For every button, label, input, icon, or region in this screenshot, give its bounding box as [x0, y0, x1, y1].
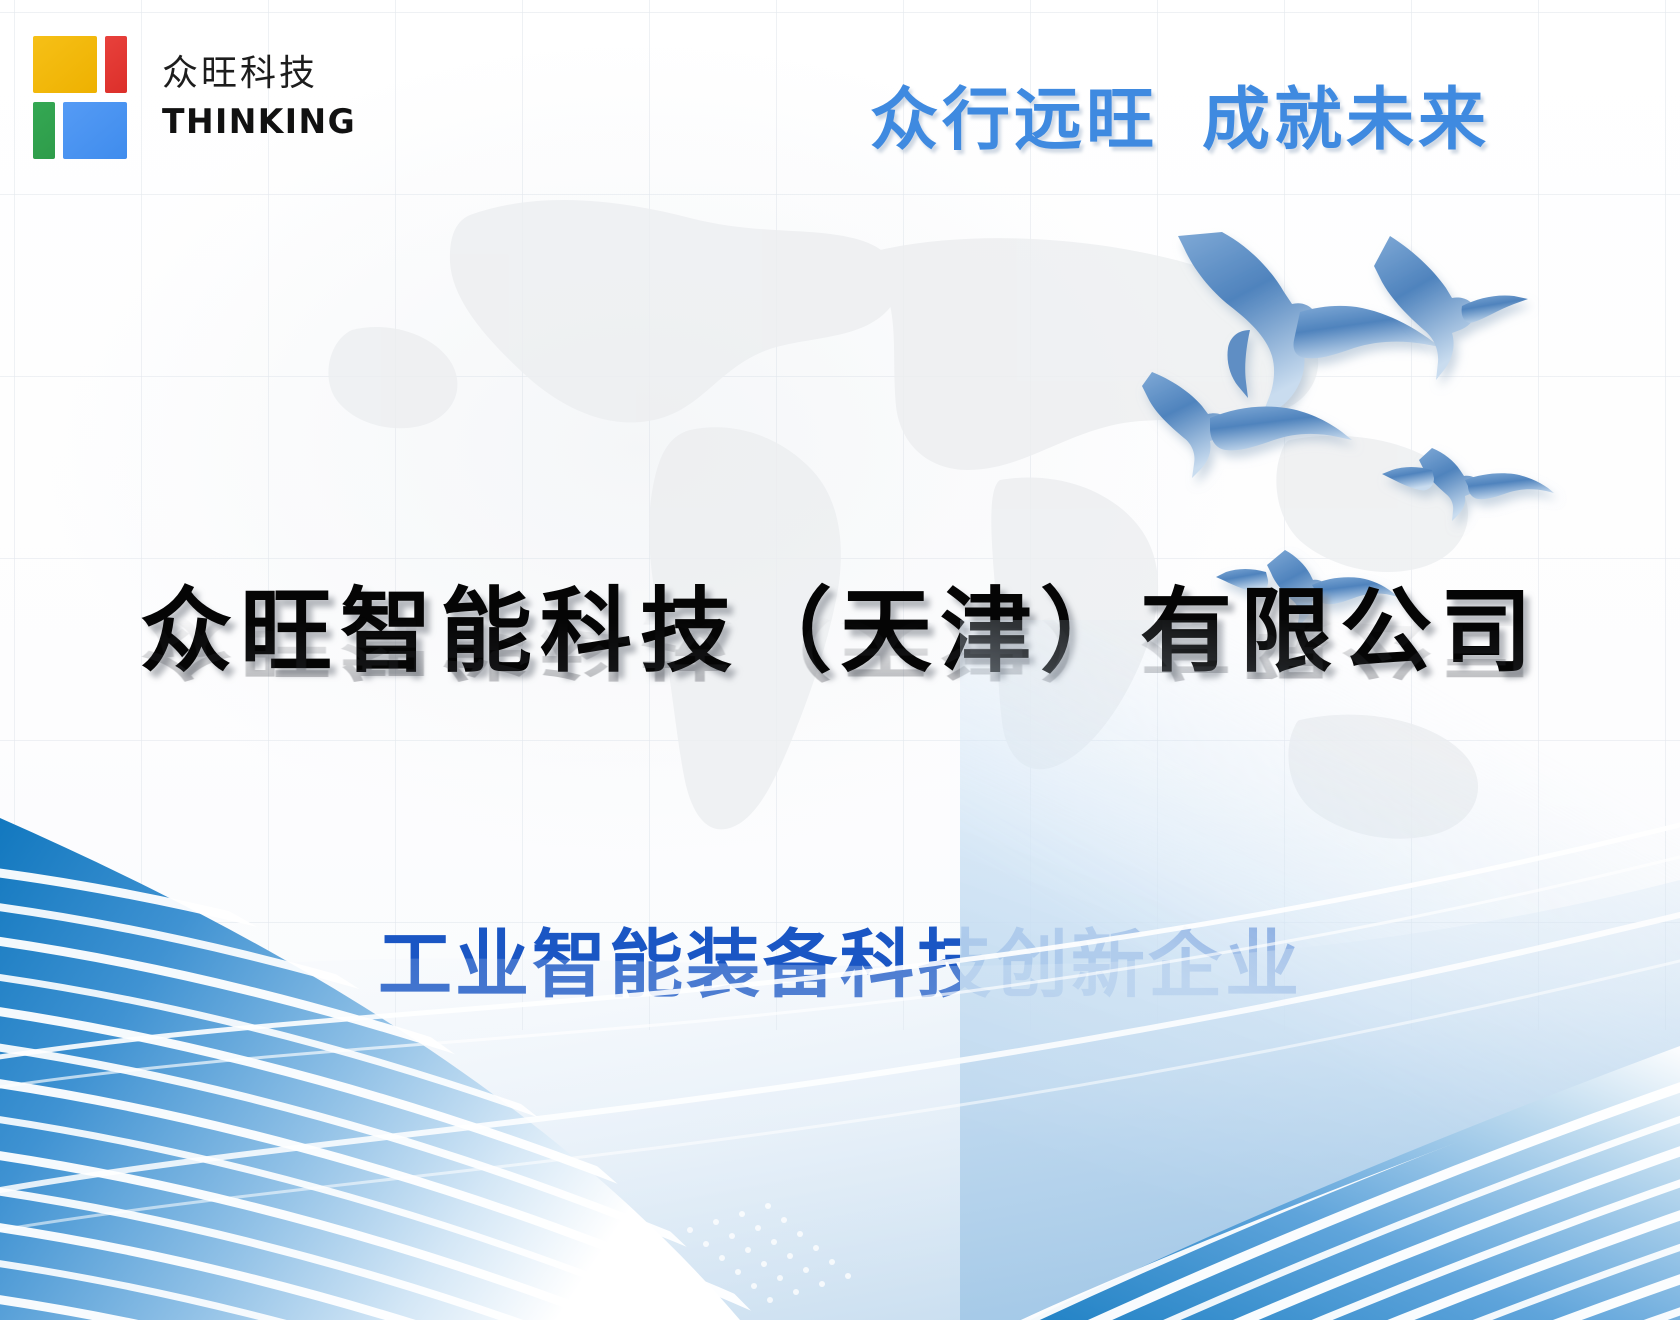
logo-tile-blue-icon: [63, 102, 127, 159]
logo-tile-yellow-icon: [33, 36, 97, 93]
slogan-part-two: 成就未来: [1202, 81, 1490, 160]
logo-tiles-icon: [30, 32, 138, 162]
logo-chinese-name: 众旺科技: [162, 55, 362, 93]
slogan-part-one: 众行远旺: [870, 81, 1158, 160]
company-logo[interactable]: 众旺科技 THINKING: [30, 32, 362, 162]
presentation-slide: 众旺科技 THINKING 众行远旺成就未来: [0, 0, 1680, 1320]
main-title-block: 众旺智能科技（天津）有限公司 众旺智能科技（天津）有限公司: [0, 582, 1680, 783]
logo-tile-red-icon: [105, 36, 127, 93]
logo-english-name: THINKING: [162, 105, 356, 139]
logo-wordmark: 众旺科技 THINKING: [162, 32, 362, 162]
logo-tile-green-icon: [33, 102, 55, 159]
slide-slogan: 众行远旺成就未来: [870, 64, 1490, 163]
page-title-reflection: 众旺智能科技（天津）有限公司: [0, 612, 1680, 684]
page-subtitle: 工业智能装备科技创新企业: [0, 905, 1680, 1012]
